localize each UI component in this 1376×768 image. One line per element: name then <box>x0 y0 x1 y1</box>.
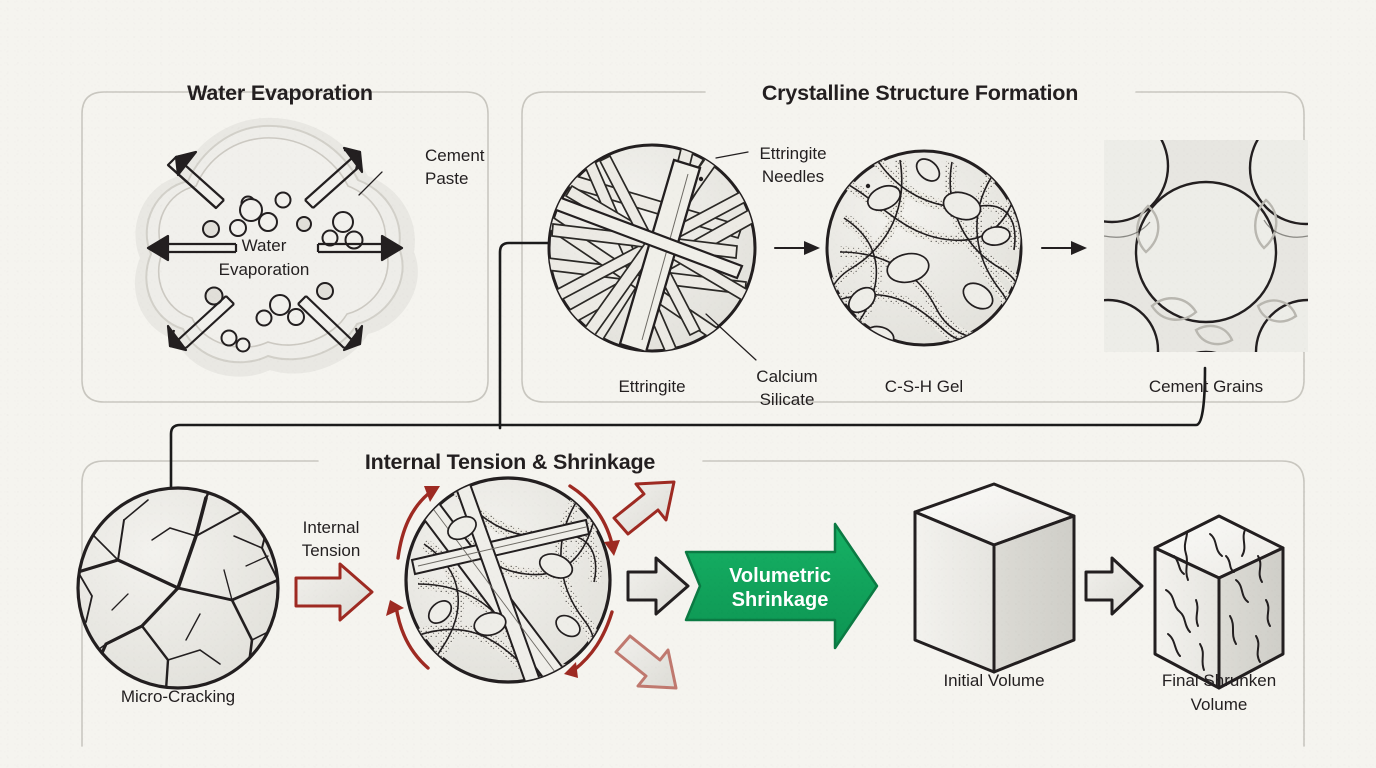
cement-grains-micrograph: Cement Grains <box>1056 110 1362 444</box>
arrow-ettringite-to-csh <box>775 241 820 255</box>
arrow-csh-to-grains <box>1042 241 1087 255</box>
cement-paste-label-1: Cement <box>425 146 485 165</box>
diagram-canvas: Water Evaporation Crystalline Structure … <box>0 0 1376 768</box>
internal-tension-label-1: Internal <box>303 518 360 537</box>
panel-title-crystalline: Crystalline Structure Formation <box>762 81 1078 105</box>
cement-paste-label-2: Paste <box>425 169 468 188</box>
final-volume-caption-1: Final Shrunken <box>1162 671 1276 690</box>
arrow-red-down-icon <box>616 636 676 688</box>
internal-tension-arrow <box>296 564 372 620</box>
arrow-initial-to-final <box>1086 558 1142 614</box>
arrow-red-up-icon <box>614 482 674 534</box>
internal-tension-label-2: Tension <box>302 541 361 560</box>
tension-csh-micrograph <box>406 478 610 716</box>
initial-volume-caption: Initial Volume <box>943 671 1044 690</box>
ettringite-needles-label-1: Ettringite <box>759 144 826 163</box>
ettringite-needles-label-2: Needles <box>762 167 824 186</box>
calcium-silicate-label-1: Calcium <box>756 367 817 386</box>
volumetric-shrinkage-arrow: Volumetric Shrinkage <box>686 524 877 648</box>
csh-gel-micrograph: C-S-H Gel <box>827 151 1021 396</box>
ettringite-needles-leader-line <box>716 152 748 158</box>
cement-grains-caption: Cement Grains <box>1149 377 1263 396</box>
calcium-silicate-leader-line <box>706 314 756 360</box>
ettringite-caption: Ettringite <box>618 377 685 396</box>
initial-volume-cube: Initial Volume <box>915 484 1074 690</box>
micro-cracking-micrograph: Micro-Cracking <box>78 480 284 706</box>
volumetric-shrinkage-label-1: Volumetric <box>729 565 831 587</box>
csh-gel-caption: C-S-H Gel <box>885 377 963 396</box>
final-volume-caption-2: Volume <box>1191 695 1248 714</box>
final-shrunken-volume-cube: Final Shrunken Volume <box>1155 516 1283 714</box>
panel-title-internal-tension: Internal Tension & Shrinkage <box>365 450 656 474</box>
water-evaporation-center-label-1: Water <box>242 236 287 255</box>
volumetric-shrinkage-label-2: Shrinkage <box>732 589 829 611</box>
panel-title-water-evaporation: Water Evaporation <box>187 81 373 105</box>
ettringite-micrograph: Ettringite <box>541 145 762 396</box>
micro-cracking-caption: Micro-Cracking <box>121 687 235 706</box>
arrow-gray-right-icon <box>628 558 688 614</box>
tension-output-arrows <box>614 482 688 688</box>
water-evaporation-center-label-2: Evaporation <box>219 260 310 279</box>
calcium-silicate-label-2: Silicate <box>760 390 815 409</box>
